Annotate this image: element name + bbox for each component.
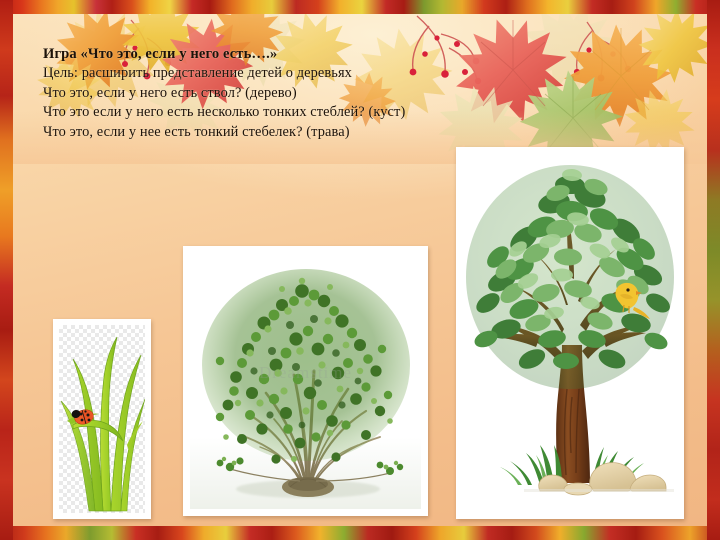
frame-bottom-border [0, 526, 720, 540]
image-panel-tree[interactable] [456, 147, 684, 519]
tree-illustration [462, 153, 678, 513]
frame-top-border [0, 0, 720, 14]
question-bush-line: Что это если у него есть несколько тонки… [43, 103, 603, 122]
image-panel-bush[interactable]: Dreamstime [183, 246, 428, 516]
slide-text-block: Игра «Что это, если у него есть….» Цель:… [43, 45, 603, 142]
frame-right-border [707, 0, 720, 540]
grass-illustration [59, 325, 145, 513]
game-title-line: Игра «Что это, если у него есть….» [43, 45, 603, 64]
slide-page: Игра «Что это, если у него есть….» Цель:… [13, 14, 707, 526]
goal-line: Цель: расширить представление детей о де… [43, 64, 603, 83]
question-grass-line: Что это, если у нее есть тонкий стебелек… [43, 123, 603, 142]
bush-photo: Dreamstime [190, 253, 421, 509]
question-tree-line: Что это, если у него есть ствол? (дерево… [43, 84, 603, 103]
image-panel-grass[interactable] [53, 319, 151, 519]
frame-left-border [0, 0, 13, 540]
slide: Игра «Что это, если у него есть….» Цель:… [0, 0, 720, 540]
